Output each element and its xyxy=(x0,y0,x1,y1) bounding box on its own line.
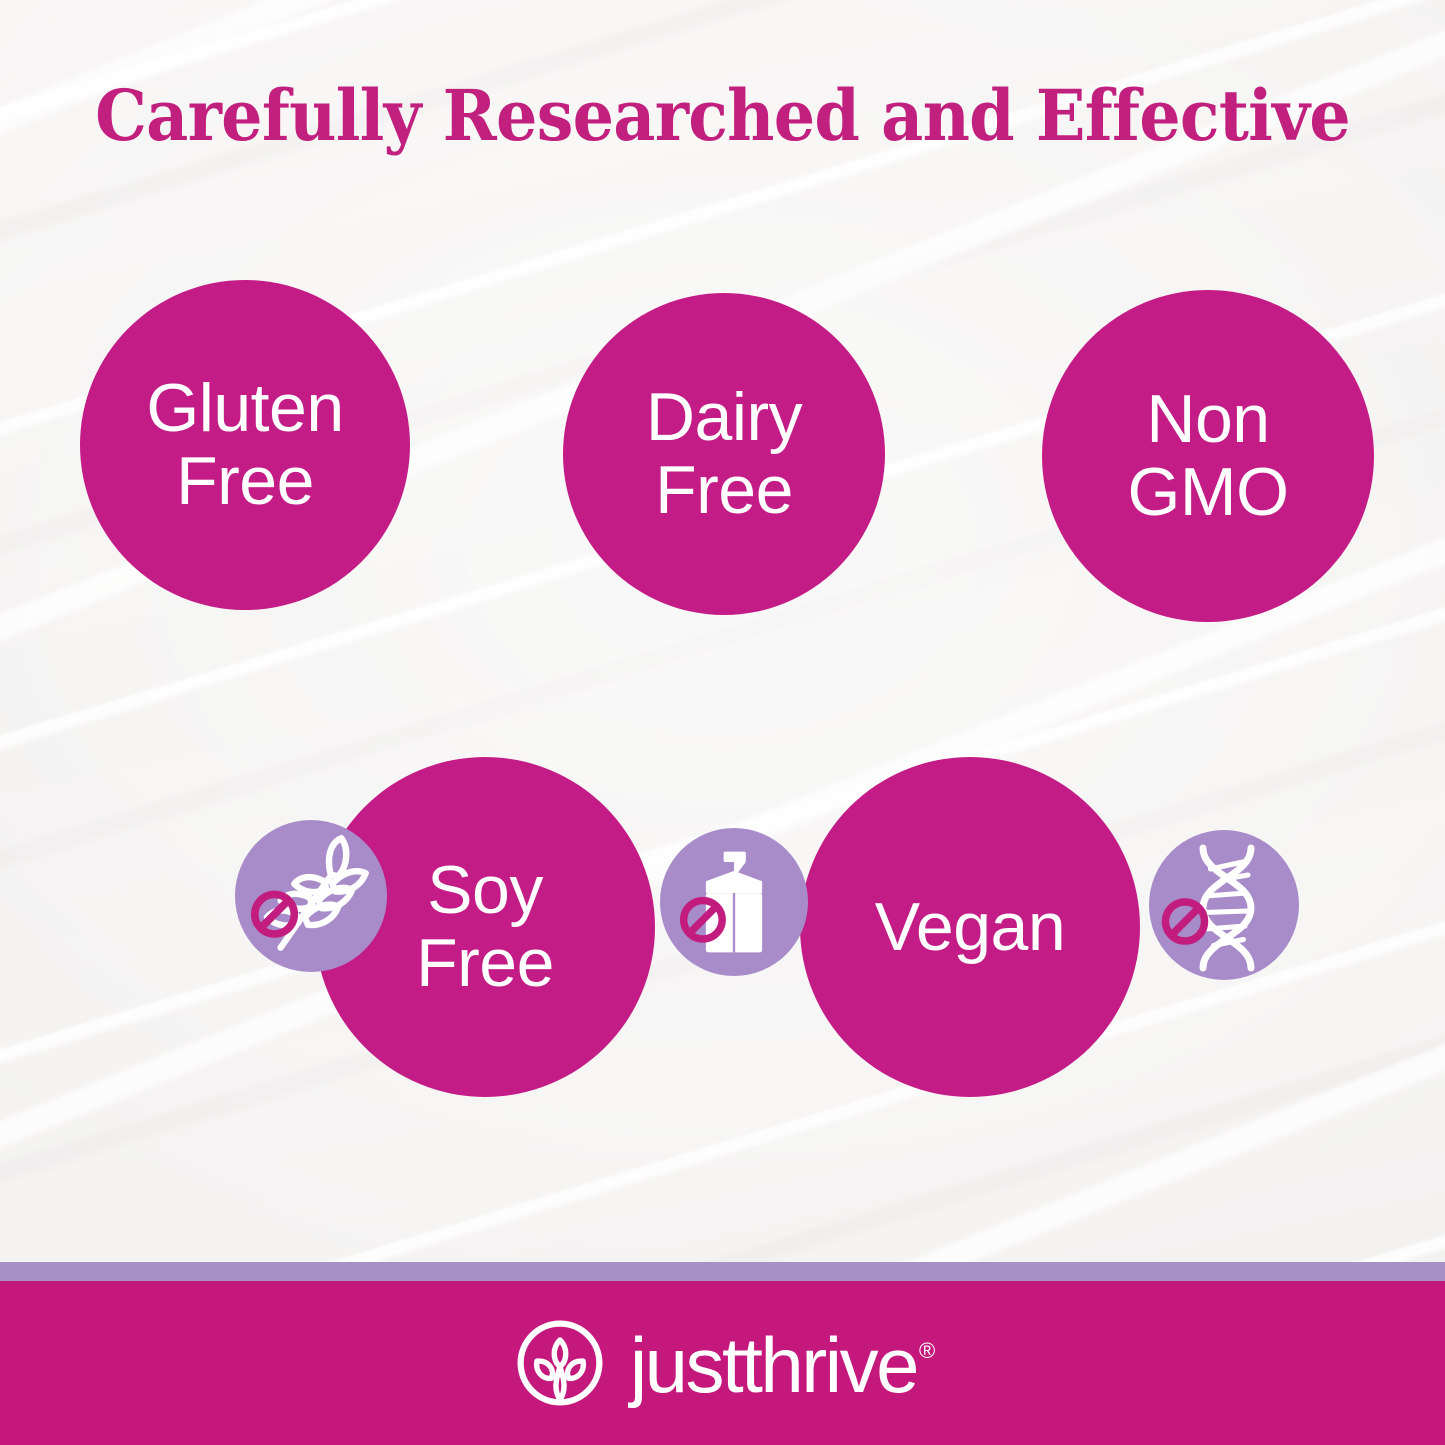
prohibition-icon xyxy=(660,828,808,976)
badge-gluten-free: Gluten Free xyxy=(80,280,410,610)
prohibition-icon xyxy=(235,820,387,972)
milk-carton-no-icon xyxy=(660,828,808,976)
brand-logo[interactable]: justthrive® xyxy=(512,1315,933,1411)
footer-purple-strip xyxy=(0,1262,1445,1281)
dna-helix-no-icon xyxy=(1149,830,1299,980)
badge-dairy-free: Dairy Free xyxy=(563,293,885,615)
page-title: Carefully Researched and Effective xyxy=(51,78,1395,154)
registered-trademark-symbol: ® xyxy=(919,1338,935,1363)
badge-non-gmo-circle: Non GMO xyxy=(1042,290,1374,622)
badge-vegan: Vegan xyxy=(800,757,1140,1097)
badge-non-gmo: Non GMO xyxy=(1042,290,1374,622)
badge-vegan-label: Vegan xyxy=(875,891,1065,964)
brand-name: justthrive xyxy=(630,1321,917,1409)
badge-dairy-free-circle: Dairy Free xyxy=(563,293,885,615)
badge-soy-free-label: Soy Free xyxy=(416,854,554,1000)
prohibition-icon xyxy=(1149,830,1299,980)
footer-bar: justthrive® xyxy=(0,1281,1445,1445)
badge-non-gmo-label: Non GMO xyxy=(1128,383,1289,529)
badge-gluten-free-label: Gluten Free xyxy=(146,372,343,518)
badge-gluten-free-circle: Gluten Free xyxy=(80,280,410,610)
badge-dairy-free-label: Dairy Free xyxy=(646,381,802,527)
infographic-canvas: Carefully Researched and Effective Glute… xyxy=(0,0,1445,1445)
justthrive-trefoil-logo-icon xyxy=(512,1315,608,1411)
background-vignette xyxy=(0,0,1445,1445)
wheat-stalk-no-icon xyxy=(235,820,387,972)
badge-vegan-circle: Vegan xyxy=(800,757,1140,1097)
